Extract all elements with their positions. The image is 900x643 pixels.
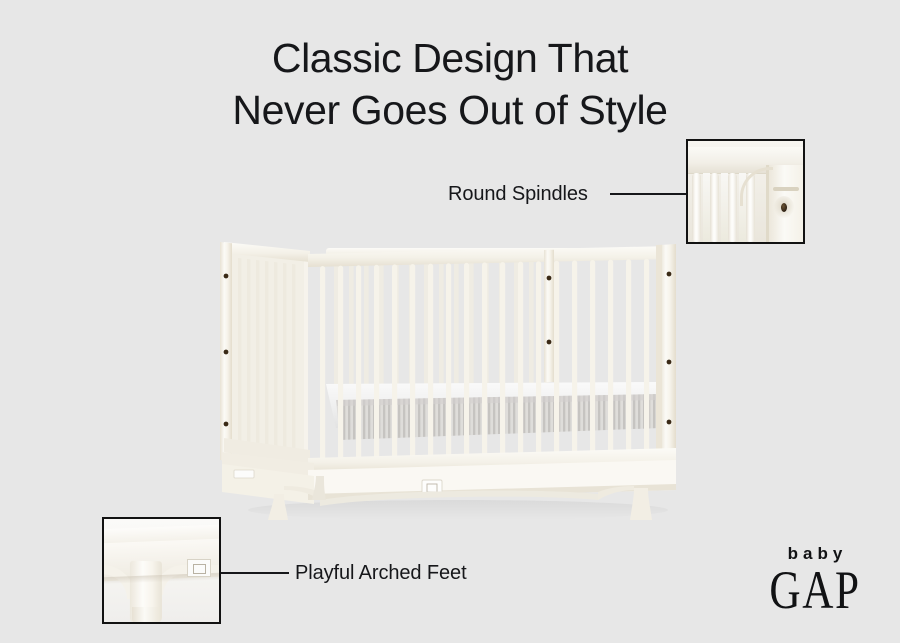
arched-foot-closeup-image (104, 519, 219, 622)
closeup-screw-icon (781, 203, 787, 212)
hardware-screw (667, 272, 672, 277)
callout-label-playful-arched-feet: Playful Arched Feet (295, 561, 467, 585)
hardware-screw (224, 422, 229, 427)
callout-label-round-spindles: Round Spindles (448, 182, 588, 206)
promo-canvas: Classic Design That Never Goes Out of St… (0, 0, 900, 643)
brand-logo: baby GAP (758, 545, 872, 615)
closeup-spindle (728, 173, 737, 242)
page-title: Classic Design That Never Goes Out of St… (0, 32, 900, 136)
crib-left-end-panel (220, 242, 310, 464)
hardware-screw (547, 276, 552, 281)
hardware-screw (667, 360, 672, 365)
callout-leader-line-playful-arched-feet (219, 572, 289, 574)
brand-plate-side (234, 470, 254, 478)
detail-box-round-spindles (686, 139, 805, 244)
closeup-slot-detail (773, 187, 799, 191)
page-title-line-1: Classic Design That (0, 32, 900, 84)
closeup-spindle (692, 173, 701, 242)
callout-leader-line-round-spindles (610, 193, 686, 195)
page-title-line-2: Never Goes Out of Style (0, 84, 900, 136)
hardware-screw (667, 420, 672, 425)
product-image (208, 232, 692, 522)
hardware-screw (547, 340, 552, 345)
spindle-closeup-image (688, 141, 803, 242)
brand-logo-gap: GAP (769, 565, 860, 615)
closeup-spindle-gap (703, 173, 710, 242)
hardware-screw (224, 350, 229, 355)
closeup-spindle (710, 173, 719, 242)
closeup-spindle-gap (721, 173, 728, 242)
crib-right-post (656, 244, 676, 466)
detail-box-playful-arched-feet (102, 517, 221, 624)
closeup-leg-foot (132, 607, 160, 623)
hardware-screw (224, 274, 229, 279)
closeup-brand-plate (187, 559, 211, 577)
